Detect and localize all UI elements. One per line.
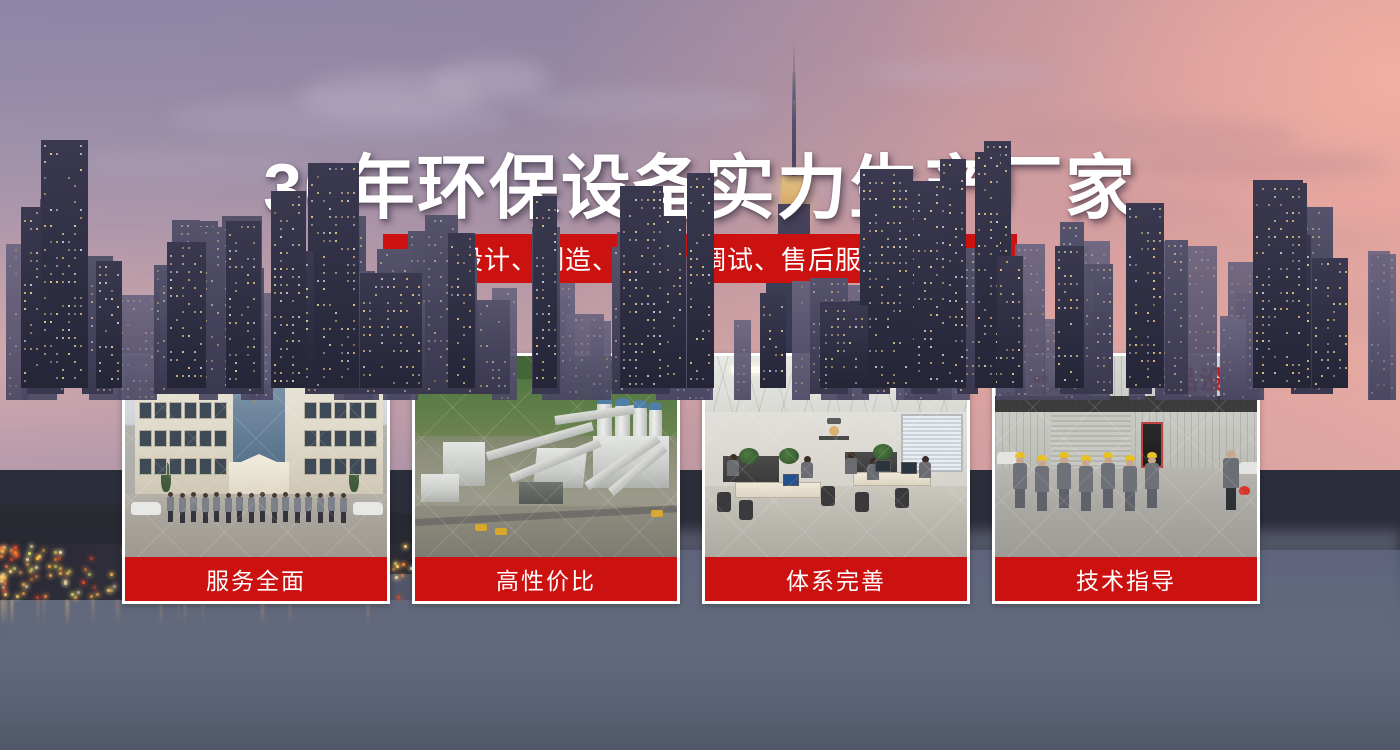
building-window <box>199 458 212 475</box>
building-window <box>349 458 362 475</box>
card-caption: 高性价比 <box>415 557 677 601</box>
excavator <box>495 528 507 535</box>
shore-light <box>1 579 4 582</box>
staff-member <box>259 492 266 522</box>
light-reflection <box>92 600 94 626</box>
building <box>308 163 359 388</box>
worker <box>1145 452 1159 508</box>
building-window <box>364 402 377 419</box>
cloud <box>860 60 1060 88</box>
building <box>566 314 605 400</box>
employee <box>919 456 931 478</box>
potted-plant <box>779 448 799 464</box>
parked-car <box>1239 462 1257 474</box>
building <box>1253 183 1307 388</box>
building-window <box>214 402 227 419</box>
potted-plant <box>739 448 759 464</box>
staff-member <box>317 493 324 523</box>
light-reflection <box>37 600 39 626</box>
light-reflection <box>118 600 120 626</box>
shore-light <box>77 591 80 594</box>
employee <box>845 452 857 474</box>
desk <box>735 482 821 498</box>
shore-light <box>49 574 52 577</box>
shore-light <box>1 550 4 553</box>
building <box>909 181 945 388</box>
shore-light <box>13 567 16 570</box>
worker <box>1123 455 1137 511</box>
building <box>1126 203 1164 388</box>
shore-light <box>19 571 22 574</box>
shore-light <box>90 557 93 560</box>
shore-light <box>107 589 110 592</box>
monitor <box>875 460 891 472</box>
shore-light <box>14 551 17 554</box>
staff-member <box>271 493 278 523</box>
shore-light <box>0 555 3 558</box>
shore-light <box>54 551 57 554</box>
building-window <box>304 402 317 419</box>
shore-light <box>35 566 38 569</box>
supervisor <box>1223 450 1239 510</box>
employee <box>801 456 813 478</box>
shore-light <box>42 549 45 552</box>
shore-light <box>28 552 31 555</box>
shore-light <box>10 558 13 561</box>
shore-light <box>5 565 8 568</box>
shore-light <box>30 578 33 581</box>
building <box>792 281 809 400</box>
hero-banner: 30年环保设备实力生产厂家 集设计、制造、安装、调试、售后服务于一体 中基机械 <box>0 0 1400 750</box>
building-forecourt <box>125 494 387 557</box>
staff-member <box>328 492 335 522</box>
building <box>271 191 306 388</box>
building-window <box>169 430 182 447</box>
building <box>41 140 88 388</box>
shore-light <box>3 589 6 592</box>
building-entrance <box>229 462 289 496</box>
light-reflection <box>43 600 45 626</box>
silo-cap <box>649 402 662 410</box>
shore-light <box>3 546 6 549</box>
building <box>620 186 663 388</box>
staff-member <box>248 493 255 523</box>
light-reflection <box>67 600 69 626</box>
shore-light <box>35 575 38 578</box>
building <box>226 221 261 388</box>
staff-member <box>282 492 289 522</box>
wall-decal <box>817 418 851 448</box>
employee <box>727 454 739 476</box>
staff-member <box>167 492 174 522</box>
building <box>1055 246 1085 389</box>
shore-light <box>84 568 87 571</box>
staff-member <box>179 493 186 523</box>
shore-light <box>30 568 33 571</box>
building <box>448 233 474 388</box>
excavator <box>475 524 487 531</box>
shore-light <box>96 593 99 596</box>
shore-light <box>54 558 57 561</box>
worker <box>1035 455 1049 511</box>
light-reflection <box>5 600 7 626</box>
shore-light <box>30 545 33 548</box>
parked-car <box>353 502 383 515</box>
building <box>822 305 868 388</box>
worker <box>1057 452 1071 508</box>
building-window <box>199 430 212 447</box>
building <box>1220 316 1238 400</box>
plant-building <box>421 474 459 502</box>
shore-light <box>110 589 113 592</box>
building <box>760 293 786 388</box>
shore-light <box>38 555 41 558</box>
shore-light <box>82 581 85 584</box>
shore-light <box>15 554 18 557</box>
chair <box>855 492 869 512</box>
building-window <box>349 402 362 419</box>
shore-light <box>36 596 39 599</box>
worker <box>1101 452 1115 508</box>
chair <box>895 488 909 508</box>
shore-light <box>90 595 93 598</box>
shore-light <box>58 557 61 560</box>
building-window <box>139 402 152 419</box>
staff-member <box>294 493 301 523</box>
shore-light <box>59 567 62 570</box>
building <box>1165 240 1188 394</box>
laptop <box>783 474 799 486</box>
building-window <box>139 430 152 447</box>
shore-light <box>59 551 62 554</box>
card-caption: 体系完善 <box>705 557 967 601</box>
building-window <box>214 458 227 475</box>
staff-member <box>225 493 232 523</box>
staff-member <box>340 493 347 523</box>
building-window <box>169 458 182 475</box>
chair <box>739 500 753 520</box>
worker <box>1079 455 1093 511</box>
building <box>167 242 206 389</box>
building-window <box>139 458 152 475</box>
building-window <box>154 458 167 475</box>
building <box>397 273 422 388</box>
building-window <box>304 430 317 447</box>
building-window <box>319 430 332 447</box>
parked-car <box>131 502 161 515</box>
staff-member <box>236 492 243 522</box>
staff-member <box>202 493 209 523</box>
building-window <box>304 458 317 475</box>
light-reflection <box>11 600 13 626</box>
building <box>860 169 913 388</box>
shore-light <box>4 593 7 596</box>
building-window <box>319 458 332 475</box>
excavator <box>651 510 663 517</box>
building <box>734 320 751 400</box>
building <box>360 273 398 388</box>
building <box>687 173 715 388</box>
shore-light <box>25 585 28 588</box>
shore-light <box>14 546 17 549</box>
silo-cap <box>633 400 647 408</box>
red-helmet <box>1239 486 1250 495</box>
building-window <box>184 458 197 475</box>
building-window <box>184 402 197 419</box>
building-window <box>154 430 167 447</box>
building-window <box>334 458 347 475</box>
shore-light <box>26 558 29 561</box>
shore-light <box>71 593 74 596</box>
building <box>118 295 157 400</box>
staff-member <box>305 492 312 522</box>
worker <box>1013 452 1027 508</box>
building-window <box>199 402 212 419</box>
shore-light <box>59 572 62 575</box>
cloud <box>520 88 770 122</box>
building-window <box>364 430 377 447</box>
chair <box>717 492 731 512</box>
building-window <box>214 430 227 447</box>
shore-light <box>26 563 29 566</box>
shore-light <box>48 565 51 568</box>
cloud <box>430 60 550 100</box>
shore-light <box>9 570 12 573</box>
shore-light <box>110 573 113 576</box>
building <box>477 300 510 394</box>
shore-light <box>44 595 47 598</box>
building <box>997 256 1024 388</box>
card-caption: 技术指导 <box>995 557 1257 601</box>
shore-light <box>74 596 77 599</box>
building <box>533 196 558 388</box>
shore-light <box>54 565 57 568</box>
chair <box>821 486 835 506</box>
building-window <box>349 430 362 447</box>
building-window <box>184 430 197 447</box>
shore-light <box>88 573 91 576</box>
staff-member <box>213 492 220 522</box>
building-window <box>364 458 377 475</box>
shore-light <box>22 592 25 595</box>
light-reflection <box>116 600 118 626</box>
building <box>96 261 122 388</box>
building <box>1368 251 1390 400</box>
shore-light <box>16 595 19 598</box>
shore-light <box>22 583 25 586</box>
building-window <box>319 402 332 419</box>
building-window <box>334 430 347 447</box>
shore-light <box>68 570 71 573</box>
monitor <box>901 462 917 474</box>
card-caption: 服务全面 <box>125 557 387 601</box>
plant-shed <box>519 482 563 504</box>
building <box>1312 258 1348 388</box>
building-window <box>169 402 182 419</box>
building-window <box>334 402 347 419</box>
shore-light <box>93 586 96 589</box>
building-window <box>154 402 167 419</box>
light-reflection <box>2 600 4 626</box>
staff-member <box>190 492 197 522</box>
shore-light <box>113 585 116 588</box>
shore-light <box>4 582 7 585</box>
